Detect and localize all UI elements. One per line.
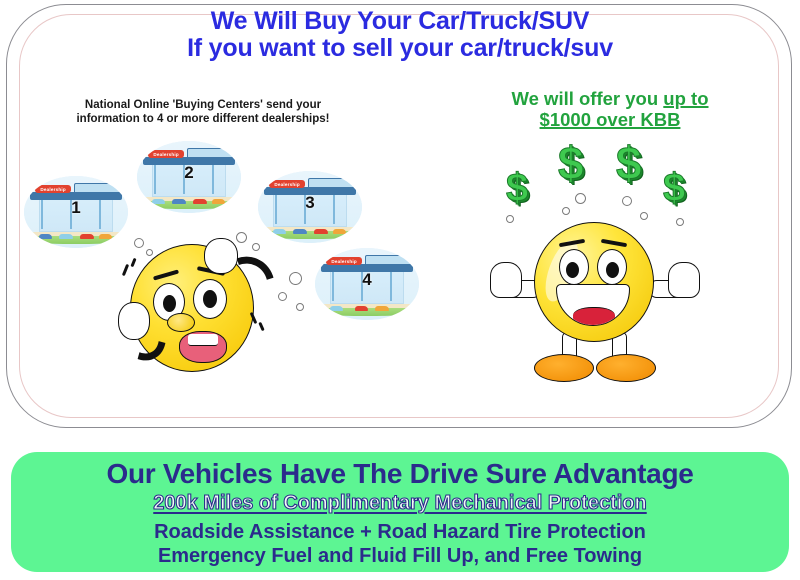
sparkle-bubble bbox=[575, 193, 586, 204]
banner-line-4: Emergency Fuel and Fluid Fill Up, and Fr… bbox=[158, 544, 642, 568]
headline-line-2: If you want to sell your car/truck/suv bbox=[0, 35, 800, 62]
banner-line-3: Roadside Assistance + Road Hazard Tire P… bbox=[154, 520, 646, 544]
happy-emoji-eye bbox=[597, 249, 627, 285]
dealership-car bbox=[212, 199, 226, 204]
worried-emoji-hand bbox=[204, 238, 238, 274]
worried-emoji-sweat bbox=[122, 264, 129, 276]
worried-emoji-brow bbox=[153, 269, 179, 280]
happy-emoji-tongue bbox=[573, 307, 615, 325]
left-note-line-2: information to 4 or more different deale… bbox=[48, 112, 358, 126]
worried-emoji-hand bbox=[118, 302, 150, 340]
dollar-sign-icon: $ bbox=[506, 168, 528, 208]
thought-bubble bbox=[289, 272, 302, 285]
advertisement-banner: We Will Buy Your Car/Truck/SUV If you wa… bbox=[0, 0, 800, 580]
dealership-car bbox=[172, 199, 186, 204]
left-note-line-1: National Online 'Buying Centers' send yo… bbox=[48, 98, 358, 112]
banner-highlight: 200k Miles of Complimentary Mechanical P… bbox=[153, 490, 646, 516]
headline-line-1: We Will Buy Your Car/Truck/SUV bbox=[0, 8, 800, 35]
dealership-card-4: Dealership 4 bbox=[315, 248, 419, 320]
dealership-car bbox=[80, 234, 94, 239]
dealership-car bbox=[152, 199, 166, 204]
worried-emoji-sweat bbox=[258, 322, 264, 331]
dealership-card-3: Dealership 3 bbox=[258, 171, 362, 243]
dollar-sign-icon: $ bbox=[616, 140, 642, 186]
happy-emoji-pupil bbox=[566, 262, 579, 278]
left-note: National Online 'Buying Centers' send yo… bbox=[48, 98, 358, 126]
drive-sure-banner: Our Vehicles Have The Drive Sure Advanta… bbox=[11, 452, 789, 572]
dealership-car bbox=[333, 229, 347, 234]
sparkle-bubble bbox=[640, 212, 648, 220]
dealership-car bbox=[375, 306, 389, 311]
banner-title: Our Vehicles Have The Drive Sure Advanta… bbox=[106, 458, 693, 490]
dealership-car bbox=[314, 229, 328, 234]
offer-note-text: We will offer you bbox=[512, 88, 664, 109]
dealership-sign-2: Dealership bbox=[148, 150, 183, 158]
dealership-car bbox=[273, 229, 287, 234]
happy-emoji-shoe bbox=[534, 354, 594, 382]
dealership-sign-3: Dealership bbox=[269, 180, 304, 188]
dealership-sign-4: Dealership bbox=[326, 257, 361, 265]
dealership-sign-1: Dealership bbox=[35, 185, 70, 193]
thought-bubble bbox=[296, 303, 304, 311]
thumbs-up-icon bbox=[668, 262, 700, 298]
happy-emoji bbox=[500, 222, 690, 387]
dealership-car bbox=[355, 306, 369, 311]
sparkle-bubble bbox=[562, 207, 570, 215]
dealership-car bbox=[59, 234, 73, 239]
thumbs-up-icon bbox=[490, 262, 522, 298]
dealership-card-2: Dealership 2 bbox=[137, 141, 241, 213]
offer-note: We will offer you up to $1000 over KBB bbox=[455, 88, 765, 130]
sparkle-bubble bbox=[622, 196, 632, 206]
dealership-car bbox=[330, 306, 344, 311]
dealership-car bbox=[99, 234, 113, 239]
happy-emoji-shoe bbox=[596, 354, 656, 382]
dealership-car bbox=[293, 229, 307, 234]
thought-bubble bbox=[278, 292, 287, 301]
happy-emoji-brow bbox=[601, 239, 627, 247]
happy-emoji-eye bbox=[559, 249, 589, 285]
offer-note-emphasis: up to bbox=[663, 88, 708, 109]
dollar-sign-icon: $ bbox=[663, 168, 685, 208]
worried-emoji-pupil bbox=[163, 295, 176, 312]
offer-note-line-1: We will offer you up to bbox=[455, 88, 765, 109]
worried-emoji bbox=[118, 238, 268, 378]
dealership-number-3: 3 bbox=[258, 193, 362, 213]
happy-emoji-pupil bbox=[606, 262, 619, 278]
offer-note-line-2: $1000 over KBB bbox=[455, 109, 765, 130]
dealership-number-1: 1 bbox=[24, 198, 128, 218]
worried-emoji-mouth bbox=[179, 331, 227, 363]
dealership-number-2: 2 bbox=[137, 163, 241, 183]
dealership-car bbox=[39, 234, 53, 239]
worried-emoji-nose bbox=[167, 313, 195, 332]
dealership-car bbox=[193, 199, 207, 204]
worried-emoji-sweat bbox=[130, 258, 136, 267]
worried-emoji-teeth bbox=[188, 334, 218, 346]
dollar-sign-icon: $ bbox=[558, 140, 584, 186]
dealership-number-4: 4 bbox=[315, 270, 419, 290]
page-title: We Will Buy Your Car/Truck/SUV If you wa… bbox=[0, 8, 800, 62]
dealership-card-1: Dealership 1 bbox=[24, 176, 128, 248]
